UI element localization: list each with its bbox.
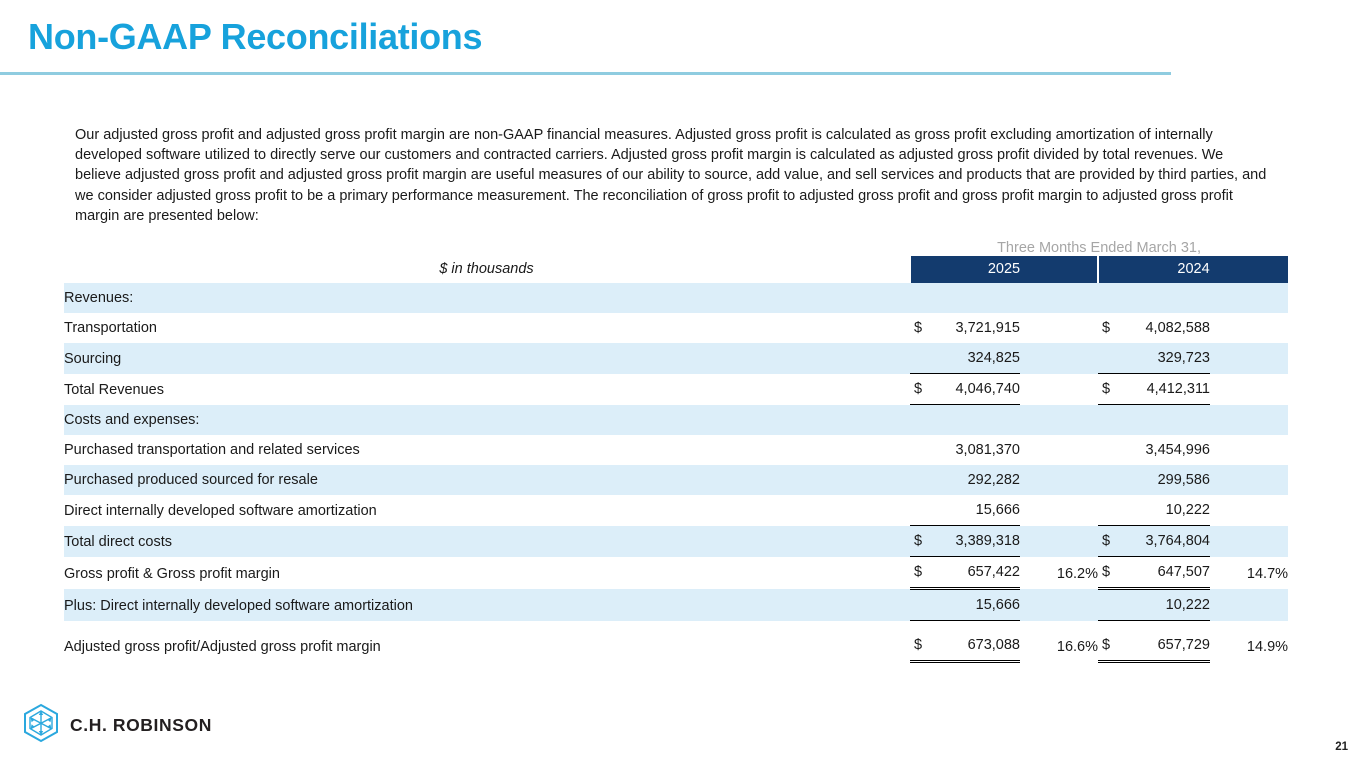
table-row: Costs and expenses:: [64, 405, 1288, 436]
row-value-2024: [1098, 405, 1210, 436]
row-pct-2025: [1020, 465, 1098, 495]
row-value-2024: 329,723: [1098, 343, 1210, 374]
row-pct-2025: [1020, 283, 1098, 313]
row-value-2025: 324,825: [910, 343, 1020, 374]
row-value-2024: $3,764,804: [1098, 526, 1210, 557]
page-number: 21: [1335, 741, 1348, 753]
row-value-2025: $3,389,318: [910, 526, 1020, 557]
row-pct-2024: [1210, 526, 1288, 557]
ch-robinson-hexagon-icon: [22, 703, 60, 748]
brand-logo: C.H. ROBINSON: [22, 703, 212, 748]
title-divider: [0, 72, 1171, 75]
row-pct-2024: [1210, 465, 1288, 495]
row-value-2025: $657,422: [910, 557, 1020, 589]
dollar-sign: $: [1102, 374, 1110, 404]
row-pct-2024: [1210, 343, 1288, 374]
intro-paragraph: Our adjusted gross profit and adjusted g…: [75, 125, 1271, 227]
row-pct-2025: [1020, 435, 1098, 465]
dollar-sign: $: [914, 526, 922, 556]
row-value-2025: $4,046,740: [910, 374, 1020, 405]
table-row: Transportation $3,721,915 $4,082,588: [64, 313, 1288, 343]
row-value-2025: 15,666: [910, 495, 1020, 526]
row-pct-2024: 14.9%: [1210, 630, 1288, 662]
dollar-sign: $: [914, 630, 922, 660]
spacer-cell: [64, 621, 1288, 631]
table-row-total: Gross profit & Gross profit margin $657,…: [64, 557, 1288, 589]
table-row-total: Adjusted gross profit/Adjusted gross pro…: [64, 630, 1288, 662]
row-pct-2025: [1020, 374, 1098, 405]
table-row: Direct internally developed software amo…: [64, 495, 1288, 526]
row-value-2024: $4,412,311: [1098, 374, 1210, 405]
row-label: Costs and expenses:: [64, 405, 910, 436]
table-header-row: $ in thousands 2025 2024: [64, 256, 1288, 283]
row-value-2024: 299,586: [1098, 465, 1210, 495]
value-text: 657,729: [1158, 637, 1210, 653]
table-row: Purchased produced sourced for resale 29…: [64, 465, 1288, 495]
units-label: $ in thousands: [64, 256, 910, 283]
brand-wordmark: C.H. ROBINSON: [70, 715, 212, 736]
table-row: Total Revenues $4,046,740 $4,412,311: [64, 374, 1288, 405]
dollar-sign: $: [1102, 313, 1110, 343]
table-row: Revenues:: [64, 283, 1288, 313]
row-pct-2025: 16.2%: [1020, 557, 1098, 589]
dollar-sign: $: [914, 374, 922, 404]
value-text: 3,389,318: [955, 533, 1020, 549]
row-pct-2024: [1210, 374, 1288, 405]
row-pct-2024: [1210, 589, 1288, 621]
table-row: Plus: Direct internally developed softwa…: [64, 589, 1288, 621]
row-label: Transportation: [64, 313, 910, 343]
row-value-2025: 15,666: [910, 589, 1020, 621]
row-value-2024: 10,222: [1098, 589, 1210, 621]
row-value-2025: $673,088: [910, 630, 1020, 662]
row-label: Plus: Direct internally developed softwa…: [64, 589, 910, 621]
row-value-2024: 3,454,996: [1098, 435, 1210, 465]
row-label: Sourcing: [64, 343, 910, 374]
table-row: Purchased transportation and related ser…: [64, 435, 1288, 465]
row-pct-2024: [1210, 405, 1288, 436]
row-pct-2025: [1020, 405, 1098, 436]
table-spacer-row: [64, 621, 1288, 631]
row-value-2025: $3,721,915: [910, 313, 1020, 343]
row-label: Purchased transportation and related ser…: [64, 435, 910, 465]
table-caption-row: Three Months Ended March 31,: [64, 231, 1288, 256]
value-text: 3,764,804: [1145, 533, 1210, 549]
dollar-sign: $: [914, 313, 922, 343]
dollar-sign: $: [1102, 557, 1110, 587]
row-label: Revenues:: [64, 283, 910, 313]
row-pct-2025: [1020, 313, 1098, 343]
table-row: Total direct costs $3,389,318 $3,764,804: [64, 526, 1288, 557]
reconciliation-table-wrap: Three Months Ended March 31, $ in thousa…: [64, 231, 1288, 663]
column-header-2024: 2024: [1098, 256, 1288, 283]
row-value-2025: [910, 405, 1020, 436]
row-pct-2025: [1020, 343, 1098, 374]
value-text: 4,082,588: [1145, 320, 1210, 336]
value-text: 673,088: [968, 637, 1020, 653]
row-pct-2024: 14.7%: [1210, 557, 1288, 589]
row-pct-2024: [1210, 313, 1288, 343]
caption-spacer: [64, 231, 910, 256]
dollar-sign: $: [914, 557, 922, 587]
value-text: 657,422: [968, 564, 1020, 580]
row-label: Purchased produced sourced for resale: [64, 465, 910, 495]
row-pct-2024: [1210, 283, 1288, 313]
table-row: Sourcing 324,825 329,723: [64, 343, 1288, 374]
row-value-2024: 10,222: [1098, 495, 1210, 526]
row-value-2024: $657,729: [1098, 630, 1210, 662]
row-label: Total direct costs: [64, 526, 910, 557]
value-text: 4,046,740: [955, 381, 1020, 397]
row-label: Adjusted gross profit/Adjusted gross pro…: [64, 630, 910, 662]
row-label: Direct internally developed software amo…: [64, 495, 910, 526]
row-value-2025: 292,282: [910, 465, 1020, 495]
value-text: 647,507: [1158, 564, 1210, 580]
row-pct-2024: [1210, 435, 1288, 465]
value-text: 4,412,311: [1147, 381, 1210, 397]
row-pct-2025: [1020, 526, 1098, 557]
row-value-2024: $4,082,588: [1098, 313, 1210, 343]
row-label: Gross profit & Gross profit margin: [64, 557, 910, 589]
row-pct-2025: [1020, 495, 1098, 526]
page-title: Non-GAAP Reconciliations: [28, 16, 482, 58]
row-pct-2025: [1020, 589, 1098, 621]
row-label: Total Revenues: [64, 374, 910, 405]
period-caption: Three Months Ended March 31,: [910, 231, 1288, 256]
dollar-sign: $: [1102, 630, 1110, 660]
reconciliation-table: Three Months Ended March 31, $ in thousa…: [64, 231, 1288, 663]
value-text: 3,721,915: [955, 320, 1020, 336]
row-value-2024: [1098, 283, 1210, 313]
dollar-sign: $: [1102, 526, 1110, 556]
row-pct-2024: [1210, 495, 1288, 526]
row-value-2025: [910, 283, 1020, 313]
row-value-2025: 3,081,370: [910, 435, 1020, 465]
column-header-2025: 2025: [910, 256, 1098, 283]
row-value-2024: $647,507: [1098, 557, 1210, 589]
row-pct-2025: 16.6%: [1020, 630, 1098, 662]
